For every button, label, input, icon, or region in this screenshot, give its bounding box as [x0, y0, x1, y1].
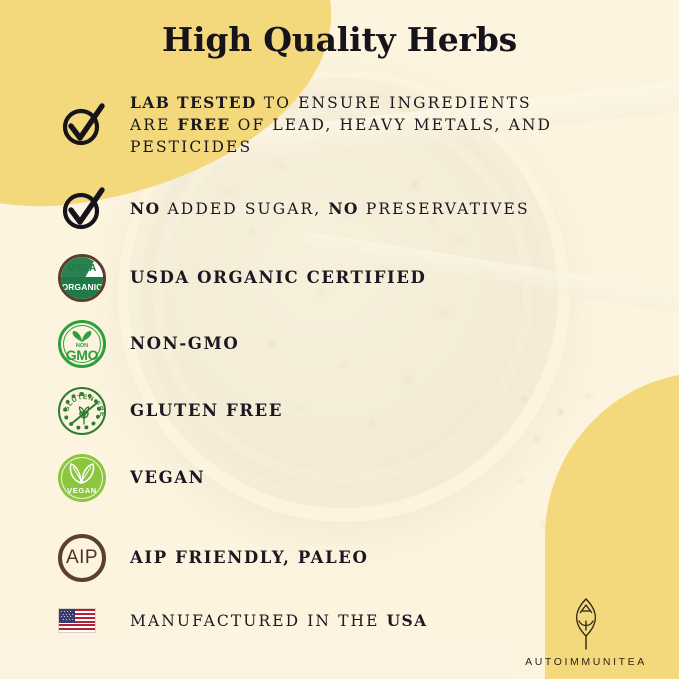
brand-name: AUTOIMMUNITEA: [506, 656, 666, 668]
infographic-canvas: High Quality Herbs LAB TESTED TO ENSURE …: [0, 0, 679, 679]
vegan-seal-icon: VEGAN: [58, 454, 106, 502]
icon-cell: [58, 100, 130, 150]
icon-cell: [58, 608, 130, 633]
usda-seal-line1: USDA: [61, 263, 103, 274]
checkmark-circle-icon: [58, 100, 108, 150]
leaf-monogram-icon: [506, 596, 666, 652]
checkmark-circle-icon: [58, 184, 108, 234]
aip-seal-label: AIP: [58, 547, 106, 569]
icon-cell: VEGAN: [58, 454, 130, 502]
feature-label: NON-GMO: [130, 332, 239, 355]
list-item-vegan: VEGAN VEGAN: [58, 454, 205, 502]
non-gmo-large-text: GMO: [61, 347, 103, 363]
feature-label: AIP FRIENDLY, PALEO: [130, 546, 368, 569]
feature-label: MANUFACTURED IN THE USA: [130, 610, 428, 632]
feature-label: GLUTEN FREE: [130, 399, 283, 422]
gluten-free-seal-icon: GLUTEN FREE: [58, 387, 106, 435]
usda-organic-seal-icon: USDA ORGANIC: [58, 254, 106, 302]
brand-logo: AUTOIMMUNITEA: [506, 596, 666, 668]
list-item-usda-organic: USDA ORGANIC USDA ORGANIC CERTIFIED: [58, 254, 426, 302]
icon-cell: GLUTEN FREE: [58, 387, 130, 435]
leaves-icon: [69, 462, 95, 484]
aip-seal-icon: AIP: [58, 534, 106, 582]
vegan-seal-label: VEGAN: [58, 486, 106, 495]
feature-label: VEGAN: [130, 466, 205, 489]
icon-cell: [58, 184, 130, 234]
list-item-manufactured-usa: MANUFACTURED IN THE USA: [58, 608, 428, 633]
feature-label: LAB TESTED TO ENSURE INGREDIENTS ARE FRE…: [130, 92, 560, 158]
icon-cell: NON GMO: [58, 320, 130, 368]
feature-label: NO ADDED SUGAR, NO PRESERVATIVES: [130, 198, 530, 220]
butterfly-icon: [72, 330, 92, 343]
icon-cell: USDA ORGANIC: [58, 254, 130, 302]
non-gmo-project-seal-icon: NON GMO: [58, 320, 106, 368]
page-title: High Quality Herbs: [0, 20, 679, 59]
list-item-no-added-sugar: NO ADDED SUGAR, NO PRESERVATIVES: [58, 184, 530, 234]
usda-seal-line2: ORGANIC: [61, 282, 103, 292]
usa-flag-icon: [58, 608, 96, 633]
list-item-aip-paleo: AIP AIP FRIENDLY, PALEO: [58, 534, 368, 582]
list-item-lab-tested: LAB TESTED TO ENSURE INGREDIENTS ARE FRE…: [58, 92, 560, 158]
feature-label: USDA ORGANIC CERTIFIED: [130, 266, 426, 289]
icon-cell: AIP: [58, 534, 130, 582]
list-item-gluten-free: GLUTEN FREE GL: [58, 387, 283, 435]
list-item-non-gmo: NON GMO NON-GMO: [58, 320, 239, 368]
